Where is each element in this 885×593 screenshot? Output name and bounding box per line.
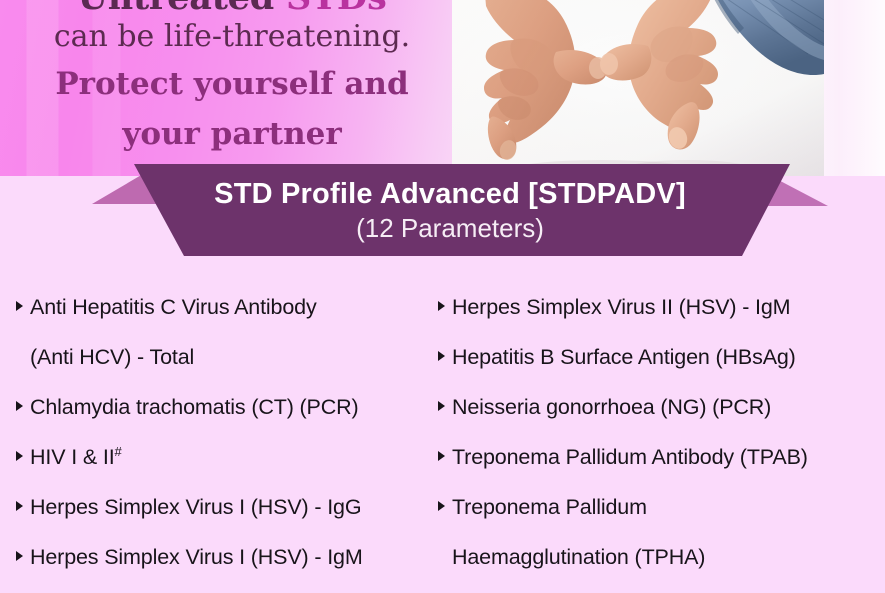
profile-title: STD Profile Advanced [STDPADV]	[214, 178, 686, 211]
parameter-footnote-marker: #	[115, 444, 122, 459]
parameter-list-area: Anti Hepatitis C Virus Antibody(Anti HCV…	[0, 258, 885, 593]
parameter-label: Treponema Pallidum	[452, 492, 647, 522]
hands-photo	[452, 0, 824, 176]
parameter-row: Treponema Pallidum Antibody (TPAB)	[438, 442, 808, 472]
parameter-label: (Anti HCV) - Total	[30, 342, 194, 372]
parameter-label: Neisseria gonorrhoea (NG) (PCR)	[452, 392, 771, 422]
bullet-triangle-icon	[438, 301, 445, 311]
profile-title-banner: STD Profile Advanced [STDPADV] (12 Param…	[0, 160, 885, 270]
banner-text-block: STD Profile Advanced [STDPADV] (12 Param…	[110, 164, 790, 256]
parameter-row: Herpes Simplex Virus II (HSV) - IgM	[438, 292, 790, 322]
bullet-triangle-icon	[16, 551, 23, 561]
bullet-triangle-icon	[16, 451, 23, 461]
headline-line-1-plain: Untreated	[77, 0, 286, 18]
parameter-row: Anti Hepatitis C Virus Antibody	[16, 292, 317, 322]
parameter-label: HIV I & II#	[30, 442, 122, 472]
parameter-row: Hepatitis B Surface Antigen (HBsAg)	[438, 342, 796, 372]
parameter-row: Haemagglutination (TPHA)	[438, 542, 705, 572]
parameter-row: Neisseria gonorrhoea (NG) (PCR)	[438, 392, 771, 422]
parameter-label: Anti Hepatitis C Virus Antibody	[30, 292, 317, 322]
headline-line-3: Protect yourself and	[22, 64, 442, 104]
parameter-label: Herpes Simplex Virus II (HSV) - IgM	[452, 292, 790, 322]
bullet-triangle-icon	[438, 401, 445, 411]
parameter-label: Treponema Pallidum Antibody (TPAB)	[452, 442, 808, 472]
parameter-row: Herpes Simplex Virus I (HSV) - IgM	[16, 542, 363, 572]
hero-banner: Untreated STDs can be life-threatening. …	[0, 0, 885, 176]
headline-line-2: can be life-threatening.	[22, 20, 442, 54]
bullet-triangle-icon	[438, 501, 445, 511]
bullet-triangle-icon	[16, 301, 23, 311]
parameter-row: (Anti HCV) - Total	[16, 342, 194, 372]
profile-parameter-count: (12 Parameters)	[356, 213, 544, 244]
headline-line-4: your partner	[22, 114, 442, 154]
banner-ribbon: STD Profile Advanced [STDPADV] (12 Param…	[110, 164, 790, 256]
std-profile-poster: Untreated STDs can be life-threatening. …	[0, 0, 885, 593]
parameter-row: HIV I & II#	[16, 442, 122, 472]
headline-line-1: Untreated STDs	[22, 0, 442, 18]
hands-illustration	[452, 0, 824, 176]
parameter-row: Treponema Pallidum	[438, 492, 647, 522]
hands-photo-inner	[452, 0, 824, 176]
bullet-triangle-icon	[16, 501, 23, 511]
bullet-triangle-icon	[16, 401, 23, 411]
bullet-triangle-icon	[438, 351, 445, 361]
parameter-label: Herpes Simplex Virus I (HSV) - IgG	[30, 492, 361, 522]
parameter-label: Chlamydia trachomatis (CT) (PCR)	[30, 392, 359, 422]
bullet-triangle-icon	[438, 451, 445, 461]
parameter-label: Hepatitis B Surface Antigen (HBsAg)	[452, 342, 796, 372]
parameter-row: Herpes Simplex Virus I (HSV) - IgG	[16, 492, 361, 522]
headline-line-1-accent: STDs	[286, 0, 387, 18]
parameter-label: Herpes Simplex Virus I (HSV) - IgM	[30, 542, 363, 572]
parameter-label: Haemagglutination (TPHA)	[452, 542, 705, 572]
parameter-row: Chlamydia trachomatis (CT) (PCR)	[16, 392, 359, 422]
hero-headline-block: Untreated STDs can be life-threatening. …	[22, 0, 442, 155]
